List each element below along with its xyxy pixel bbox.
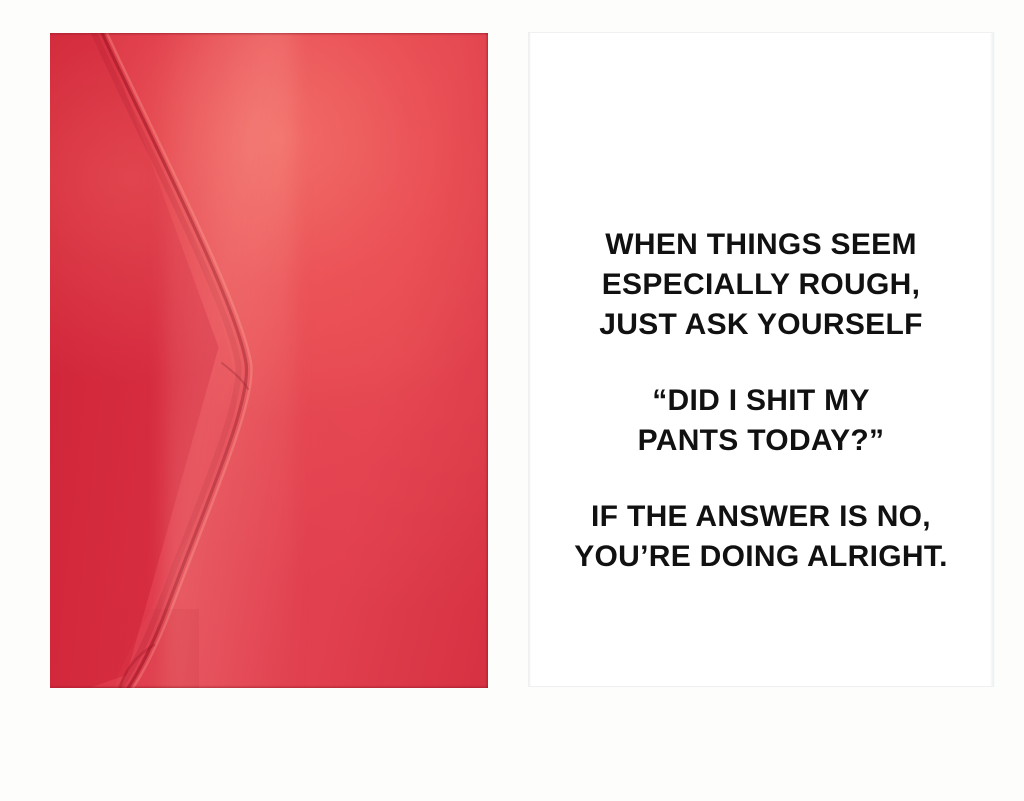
- red-envelope: [50, 33, 488, 688]
- card-stanza-3: IF THE ANSWER IS NO, YOU’RE DOING ALRIGH…: [529, 497, 993, 577]
- greeting-card: WHEN THINGS SEEM ESPECIALLY ROUGH, JUST …: [529, 33, 993, 686]
- card-line: JUST ASK YOURSELF: [529, 305, 993, 345]
- envelope-right-edge: [485, 33, 488, 688]
- card-stanza-1: WHEN THINGS SEEM ESPECIALLY ROUGH, JUST …: [529, 225, 993, 345]
- card-line: WHEN THINGS SEEM: [529, 225, 993, 265]
- card-line: ESPECIALLY ROUGH,: [529, 265, 993, 305]
- product-photo-scene: WHEN THINGS SEEM ESPECIALLY ROUGH, JUST …: [0, 0, 1024, 801]
- card-message: WHEN THINGS SEEM ESPECIALLY ROUGH, JUST …: [529, 225, 993, 577]
- envelope-bottom-edge: [50, 685, 488, 688]
- card-line: YOU’RE DOING ALRIGHT.: [529, 537, 993, 577]
- envelope-body-panel: [50, 33, 488, 688]
- card-line: “DID I SHIT MY: [529, 381, 993, 421]
- card-line: IF THE ANSWER IS NO,: [529, 497, 993, 537]
- card-stanza-2: “DID I SHIT MY PANTS TODAY?”: [529, 381, 993, 461]
- envelope-top-edge: [50, 33, 488, 36]
- card-line: PANTS TODAY?”: [529, 421, 993, 461]
